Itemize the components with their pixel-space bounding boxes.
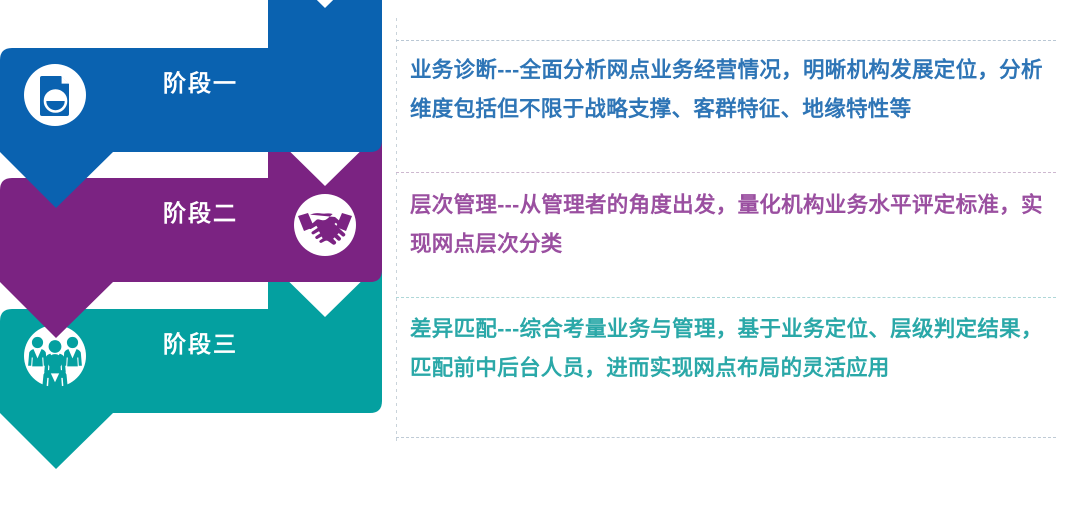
divider-top (396, 40, 1056, 41)
stage-2-label: 阶段二 (163, 194, 238, 228)
handshake-icon (292, 192, 358, 258)
divider-bottom (396, 437, 1056, 438)
stage-3-label: 阶段三 (163, 325, 238, 359)
stage-chevron-stack: 阶段三 (0, 0, 390, 523)
stage-1-label: 阶段一 (163, 64, 238, 98)
stage-3-description: 差异匹配---综合考量业务与管理，基于业务定位、层级判定结果，匹配前中后台人员，… (410, 310, 1058, 388)
description-column: 业务诊断---全面分析网点业务经营情况，明晰机构发展定位，分析维度包括但不限于战… (396, 0, 1064, 523)
stage-1-description: 业务诊断---全面分析网点业务经营情况，明晰机构发展定位，分析维度包括但不限于战… (410, 51, 1058, 129)
vertical-dashed-divider (396, 18, 397, 442)
infographic-canvas: 阶段三 (0, 0, 1080, 523)
stage-chevron-1[interactable]: 阶段一 (0, 0, 390, 190)
divider-stage-1-2 (396, 172, 1056, 173)
document-pie-chart-icon (22, 62, 88, 128)
divider-stage-2-3 (396, 297, 1056, 298)
stage-2-description: 层次管理---从管理者的角度出发，量化机构业务水平评定标准，实现网点层次分类 (410, 186, 1058, 264)
